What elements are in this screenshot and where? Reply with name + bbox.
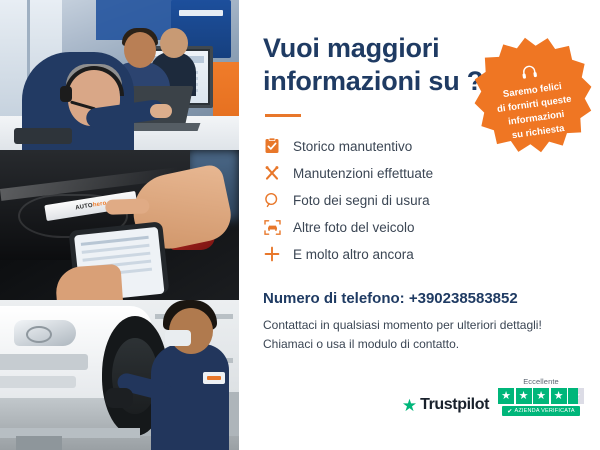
technician-hand-holding-tablet (55, 264, 124, 300)
promo-seal-badge: Saremo felici di fornirti queste informa… (466, 28, 599, 161)
phone-number[interactable]: +390238583852 (409, 290, 518, 307)
content-panel: Vuoi maggiori informazioni su ? Saremo f… (239, 0, 600, 450)
list-item-label: Foto dei segni di usura (293, 193, 430, 208)
title-underline-rule (265, 114, 301, 117)
check-icon: ✔ (507, 408, 512, 415)
list-item[interactable]: Foto dei segni di usura (263, 187, 576, 214)
contact-subtext-line-1: Contattaci in qualsiasi momento per ulte… (263, 316, 576, 335)
photo-column: AUTOhero (0, 0, 239, 450)
list-item-label: E molto altro ancora (293, 247, 414, 262)
rating-star-partial: ★ (568, 388, 584, 404)
list-item[interactable]: Altre foto del veicolo (263, 214, 576, 241)
verified-label: AZIENDA VERIFICATA (514, 408, 574, 414)
face-mask (165, 330, 191, 346)
rating-star: ★ (551, 388, 567, 404)
headlight (14, 320, 76, 346)
rating-star: ★ (516, 388, 532, 404)
magnifier-icon (263, 191, 281, 209)
list-item-label: Manutenzioni effettuate (293, 166, 433, 181)
rating-star: ★ (533, 388, 549, 404)
list-item[interactable]: Manutenzioni effettuate (263, 160, 576, 187)
tablet-on-desk (14, 128, 72, 144)
front-grille (0, 354, 88, 370)
trustpilot-rating-block: Eccellente ★ ★ ★ ★ ★ ✔ AZIENDA VERIFICAT… (498, 377, 584, 416)
headset-earcup (60, 86, 72, 102)
trustpilot-brand-name: Trustpilot (420, 396, 489, 414)
verified-company-badge: ✔ AZIENDA VERIFICATA (502, 406, 579, 416)
trustpilot-logo: ★ Trustpilot (402, 396, 489, 416)
phone-label: Numero di telefono: (263, 290, 405, 307)
trustpilot-star-icon: ★ (402, 397, 417, 414)
agent-hand (150, 104, 172, 118)
mechanic (151, 344, 229, 450)
trustpilot-star-rating: ★ ★ ★ ★ ★ (498, 388, 584, 404)
list-item[interactable]: E molto altro ancora (263, 241, 576, 268)
contact-subtext-line-2: Chiamaci o usa il modulo di contatto. (263, 335, 576, 354)
scan-car-icon (263, 218, 281, 236)
lower-grille (0, 376, 76, 388)
rating-star: ★ (498, 388, 514, 404)
plus-icon (263, 245, 281, 263)
wrench-cross-icon (263, 164, 281, 182)
lift-support (16, 436, 62, 450)
trustpilot-widget[interactable]: ★ Trustpilot Eccellente ★ ★ ★ ★ ★ ✔ AZIE… (402, 377, 584, 416)
contact-subtext: Contattaci in qualsiasi momento per ulte… (263, 316, 576, 354)
photo-call-center-agents-with-headsets (0, 0, 239, 150)
list-item-label: Storico manutentivo (293, 139, 412, 154)
clipboard-check-icon (263, 137, 281, 155)
photo-technician-applying-sticker-to-car: AUTOhero (0, 150, 239, 300)
photo-mechanic-inspecting-wheel-on-lift (0, 300, 239, 450)
trustpilot-rating-label: Eccellente (523, 377, 559, 386)
headset-glyph-icon (520, 64, 539, 81)
list-item-label: Altre foto del veicolo (293, 220, 415, 235)
uniform-logo-patch (203, 372, 225, 384)
work-glove (105, 388, 133, 408)
phone-line: Numero di telefono: +390238583852 (263, 290, 576, 307)
